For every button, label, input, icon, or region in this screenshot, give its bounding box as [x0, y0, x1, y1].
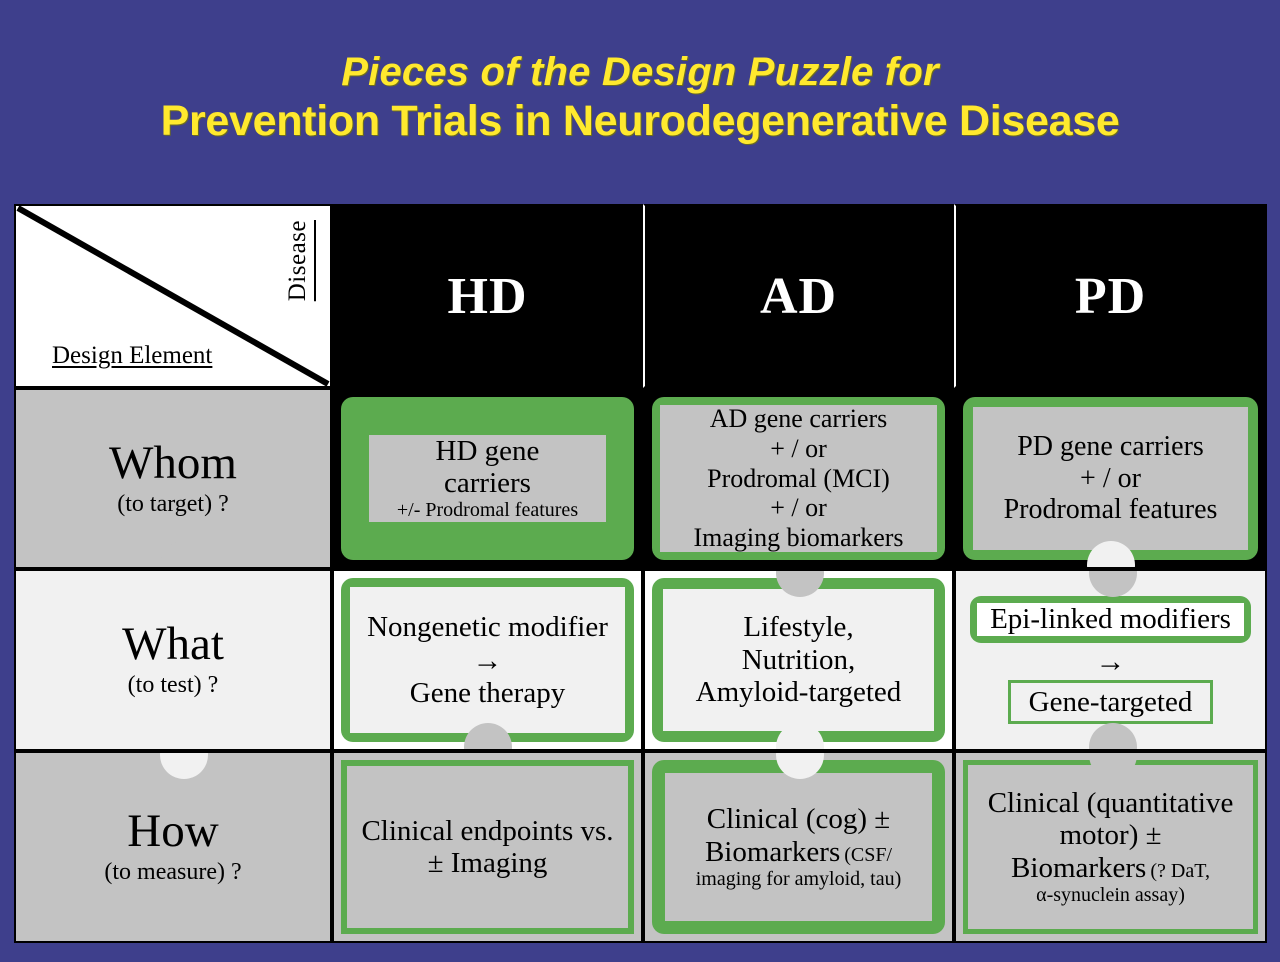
cell-whom-ad-line3: Prodromal (MCI) — [707, 464, 890, 494]
cell-how-pd-tail: (? DaT, — [1150, 860, 1210, 883]
column-header-pd: PD — [954, 204, 1267, 388]
puzzle-knob — [160, 751, 208, 779]
slide-title-block: Pieces of the Design Puzzle for Preventi… — [0, 0, 1280, 196]
cell-how-pd-line1: Clinical (quantitative — [988, 787, 1234, 819]
puzzle-knob — [1089, 723, 1137, 751]
cell-whom-pd-line1: PD gene carriers — [1017, 431, 1204, 463]
cell-how-hd: Clinical endpoints vs. ± Imaging — [332, 751, 643, 943]
row-label-what-sub: (to test) ? — [128, 672, 219, 699]
row-label-what: What (to test) ? — [14, 569, 332, 751]
cell-how-ad: Clinical (cog) ± Biomarkers (CSF/ imagin… — [643, 751, 954, 943]
axis-label-design-element: Design Element — [52, 342, 212, 370]
cell-what-hd-line3: Gene therapy — [410, 677, 565, 709]
title-line-2: Prevention Trials in Neurodegenerative D… — [161, 99, 1120, 144]
cell-how-pd-note: α-synuclein assay) — [1036, 884, 1185, 907]
cell-whom-hd-line2: carriers — [444, 467, 531, 499]
cell-how-hd-line1: Clinical endpoints vs. — [361, 815, 613, 847]
row-label-how: How (to measure) ? — [14, 751, 332, 943]
cell-how-ad-note: imaging for amyloid, tau) — [696, 868, 902, 891]
cell-what-ad-line1: Lifestyle, — [743, 611, 853, 643]
row-label-whom-sub: (to target) ? — [117, 491, 229, 518]
cell-how-ad-tail: (CSF/ — [844, 844, 892, 867]
row-label-whom-main: Whom — [109, 440, 237, 487]
cell-what-pd: Epi-linked modifiers → Gene-targeted — [954, 569, 1267, 751]
matrix-corner-cell: Disease Design Element — [14, 204, 332, 388]
puzzle-knob — [160, 541, 208, 569]
cell-how-ad-line1: Clinical (cog) ± — [707, 803, 890, 835]
cell-whom-pd-line2: + / or — [1080, 463, 1141, 495]
column-header-hd: HD — [332, 204, 643, 388]
cell-what-hd-arrow: → — [473, 644, 503, 677]
cell-how-ad-line2: Biomarkers — [705, 836, 840, 868]
cell-how-pd-line3: Biomarkers — [1011, 852, 1146, 884]
cell-what-pd-arrow: → — [1096, 645, 1126, 678]
cell-what-ad-line3: Amyloid-targeted — [696, 676, 902, 708]
puzzle-knob — [160, 723, 208, 751]
puzzle-knob — [1089, 569, 1137, 597]
cell-whom-hd: HD gene carriers +/- Prodromal features — [332, 388, 643, 569]
cell-what-hd: Nongenetic modifier → Gene therapy — [332, 569, 643, 751]
row-label-whom: Whom (to target) ? — [14, 388, 332, 569]
row-label-how-main: How — [127, 808, 218, 855]
cell-what-pd-topbox: Epi-linked modifiers — [977, 603, 1244, 635]
column-header-ad: AD — [643, 204, 954, 388]
cell-whom-ad-line4: + / or — [770, 493, 827, 523]
cell-whom-ad-line5: Imaging biomarkers — [693, 523, 903, 553]
cell-how-pd: Clinical (quantitative motor) ± Biomarke… — [954, 751, 1267, 943]
cell-what-ad-line2: Nutrition, — [742, 644, 856, 676]
cell-how-hd-line2: ± Imaging — [428, 847, 548, 879]
cell-whom-ad-line2: + / or — [770, 434, 827, 464]
cell-what-ad: Lifestyle, Nutrition, Amyloid-targeted — [643, 569, 954, 751]
cell-whom-hd-note: +/- Prodromal features — [397, 499, 578, 522]
cell-whom-pd: PD gene carriers + / or Prodromal featur… — [954, 388, 1267, 569]
design-matrix-table: Disease Design Element HD AD PD Whom (to… — [14, 204, 1267, 943]
cell-whom-pd-line3: Prodromal features — [1004, 494, 1218, 526]
axis-label-disease: Disease — [284, 220, 312, 301]
row-label-what-main: What — [122, 621, 224, 668]
row-label-how-sub: (to measure) ? — [104, 859, 241, 886]
cell-what-pd-bottom-label: Gene-targeted — [1029, 686, 1193, 718]
cell-how-pd-line2: motor) ± — [1059, 819, 1161, 851]
title-line-1: Pieces of the Design Puzzle for — [341, 51, 938, 93]
cell-whom-hd-line1: HD gene — [436, 435, 540, 467]
cell-whom-ad: AD gene carriers + / or Prodromal (MCI) … — [643, 388, 954, 569]
cell-what-hd-line1: Nongenetic modifier — [367, 611, 608, 643]
cell-whom-ad-line1: AD gene carriers — [710, 404, 888, 434]
cell-what-pd-top-label: Epi-linked modifiers — [990, 603, 1231, 635]
